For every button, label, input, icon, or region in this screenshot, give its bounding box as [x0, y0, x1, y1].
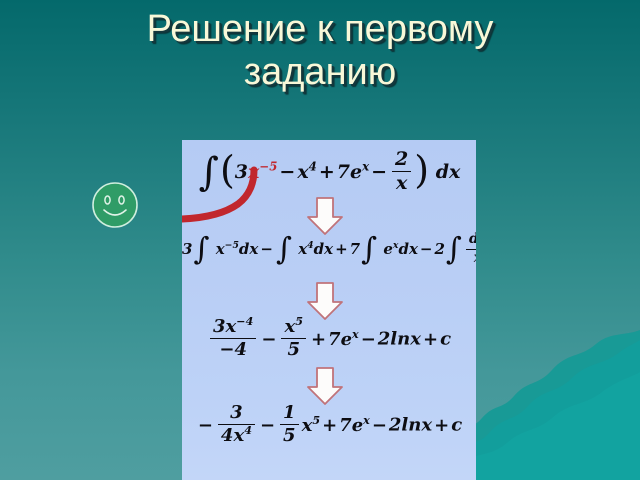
paren-close: ) [414, 148, 429, 192]
equation-integral-split: 3∫ x−5dx−∫ x4dx+7∫ exdx−2∫dxx [182, 233, 476, 267]
fraction-x5-over-5: x55 [281, 317, 306, 360]
minus-op-7: − [258, 415, 277, 436]
term-exdx: exdx [383, 240, 418, 258]
minus-op: − [277, 161, 297, 183]
term-x4: x4 [297, 161, 317, 183]
down-arrow-1-icon [306, 196, 344, 236]
equation-antiderivative-raw: 3x−4−4−x55+7ex−2lnx+c [182, 318, 476, 361]
fraction-dx-over-x: dxx [466, 232, 476, 266]
fraction-3-over-4x4: 34x4 [218, 403, 255, 446]
plus-op-5: + [320, 415, 339, 436]
term-7ex-c: 7ex [339, 415, 370, 436]
down-arrow-2-icon [306, 281, 344, 321]
plus-op-3: + [309, 329, 328, 350]
integral-sign-icon-3: ∫ [276, 231, 292, 267]
differential-dx: dx [436, 161, 461, 183]
term-xneg5dx: x−5dx [216, 240, 259, 258]
term-2lnx-b: 2lnx [389, 415, 432, 436]
constant-c-b: c [451, 415, 462, 436]
equation-integral-original: ∫(3x−5−x4+7ex−2x) dx [182, 150, 476, 196]
plus-op-2: + [333, 240, 350, 258]
term-x5: x5 [302, 415, 321, 436]
leading-minus: − [196, 415, 215, 436]
page-title: Решение к первому заданию [0, 8, 640, 93]
coefficient-3b: 3 [182, 240, 192, 258]
minus-op-3: − [258, 240, 275, 258]
integral-sign-icon-5: ∫ [446, 231, 462, 267]
term-7ex-b: 7ex [328, 329, 359, 350]
down-arrow-3-icon [306, 366, 344, 406]
highlighted-x-power: x−5 [248, 161, 277, 183]
coefficient-3: 3 [235, 161, 248, 183]
integral-sign-icon-4: ∫ [361, 231, 377, 267]
integral-sign-icon-2: ∫ [193, 231, 209, 267]
fraction-3xneg4-over-neg4: 3x−4−4 [210, 317, 256, 360]
plus-op-6: + [432, 415, 451, 436]
fraction-2-over-x: 2x [392, 149, 411, 195]
paren-open: ( [220, 148, 235, 192]
equation-antiderivative-simplified: −34x4−15x5+7ex−2lnx+c [182, 404, 476, 447]
coefficient-7: 7 [350, 240, 360, 258]
integral-sign-icon: ∫ [199, 150, 219, 195]
term-7ex: 7ex [337, 161, 369, 183]
plus-op-4: + [421, 329, 440, 350]
fraction-1-over-5: 15 [280, 403, 299, 446]
slide-canvas: Решение к первому заданию ∫(3x−5−x4+7ex−… [0, 0, 640, 480]
smiley-face-icon [91, 181, 139, 229]
minus-op-6: − [359, 329, 378, 350]
minus-op-8: − [370, 415, 389, 436]
constant-c: c [440, 329, 451, 350]
minus-op-4: − [418, 240, 435, 258]
minus-op-2: − [369, 161, 389, 183]
term-2lnx: 2lnx [378, 329, 421, 350]
plus-op: + [317, 161, 337, 183]
term-x4dx: x4dx [298, 240, 333, 258]
minus-op-5: − [259, 329, 278, 350]
coefficient-2: 2 [434, 240, 444, 258]
